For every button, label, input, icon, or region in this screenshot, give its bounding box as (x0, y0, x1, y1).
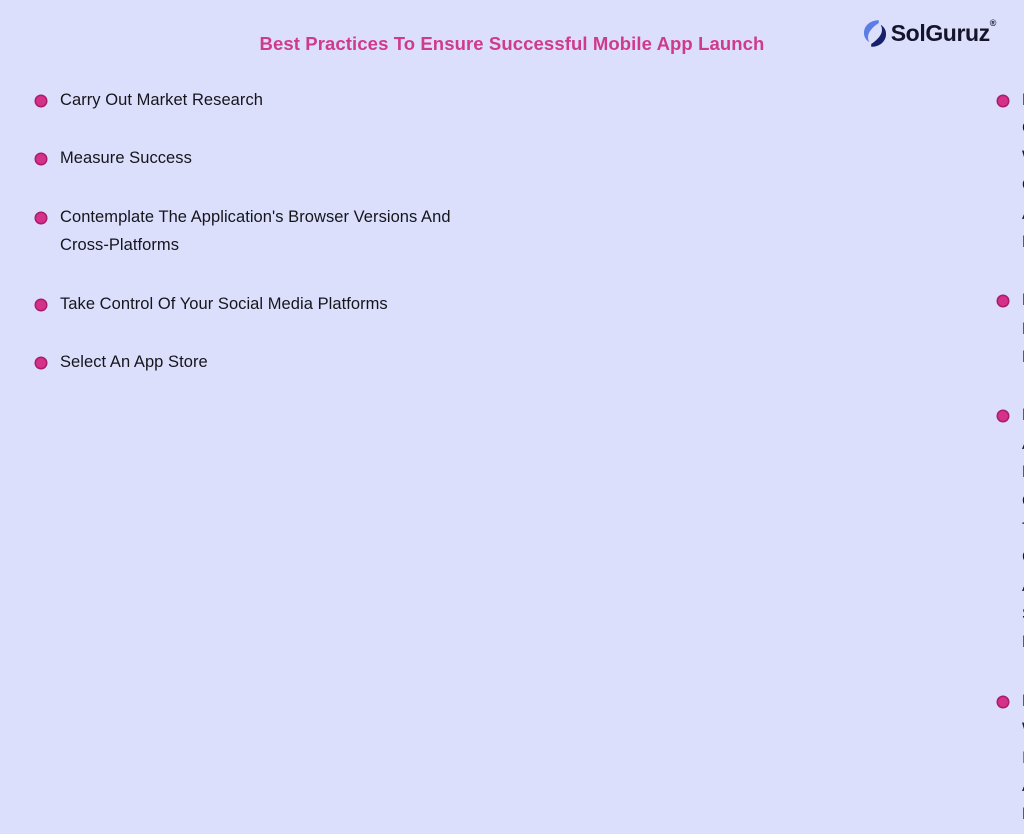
page-title: Best Practices To Ensure Successful Mobi… (0, 32, 1024, 55)
best-practices-columns: Carry Out Market Research Measure Succes… (0, 86, 1024, 834)
list-item: Take Control Of Your Social Media Platfo… (36, 290, 466, 318)
left-column: Carry Out Market Research Measure Succes… (0, 86, 495, 834)
list-item: Measure Success (36, 144, 466, 172)
right-bullet-list: Make Contact With Other Application Deve… (998, 86, 1024, 834)
registered-trademark-icon: ® (990, 18, 996, 28)
infographic-slide: SolGuruz® Best Practices To Ensure Succe… (0, 0, 1024, 417)
list-item: Determine Which Integrations Are Possibl… (998, 687, 1024, 829)
right-column: Make Contact With Other Application Deve… (495, 86, 1024, 834)
list-item: Keep An Eye On The Comments And Support … (998, 401, 1024, 656)
list-item: Contemplate The Application's Browser Ve… (36, 203, 466, 260)
list-item: Embed Download Links (998, 286, 1024, 371)
list-item: Carry Out Market Research (36, 86, 466, 114)
left-bullet-list: Carry Out Market Research Measure Succes… (36, 86, 495, 376)
list-item: Select An App Store (36, 348, 466, 376)
list-item: Make Contact With Other Application Deve… (998, 86, 1024, 256)
